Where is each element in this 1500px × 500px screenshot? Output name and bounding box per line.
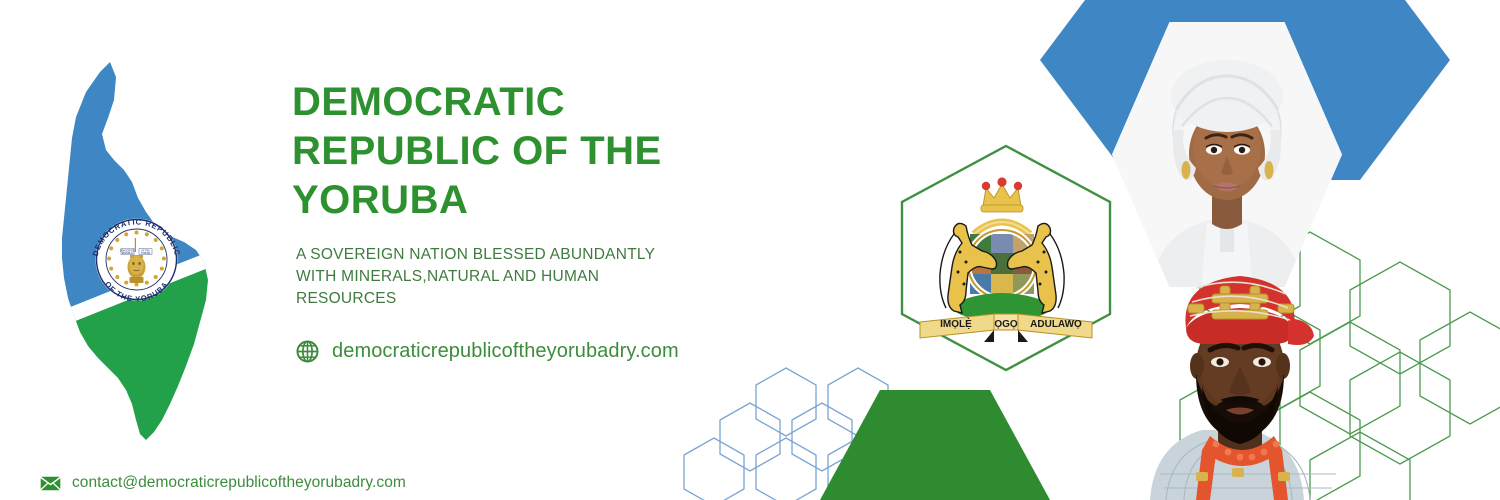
svg-text:YORUBA: YORUBA: [141, 252, 151, 255]
coat-of-arms: IMỌLẸ̀ ỌGỌ ADULAWỌ: [898, 144, 1114, 372]
tagline-line-3: RESOURCES: [296, 290, 396, 307]
tagline-line-1: A SOVEREIGN NATION BLESSED ABUNDANTLY: [296, 246, 655, 263]
motto-left: IMỌLẸ̀: [940, 316, 972, 330]
globe-icon: [296, 340, 319, 363]
green-solid-hexagon: [820, 390, 1050, 500]
national-seal: DEMOCRATIC REPUBLIC OF THE YORUBA: [85, 208, 188, 311]
envelope-icon: [40, 476, 61, 491]
svg-text:REPUBLIC: REPUBLIC: [122, 253, 134, 255]
tagline-line-2: WITH MINERALS,NATURAL AND HUMAN: [296, 268, 599, 285]
headline-line-1: DEMOCRATIC: [292, 80, 565, 124]
portrait-man: [1140, 258, 1355, 500]
motto-right: ADULAWỌ: [1030, 319, 1082, 330]
banner-root: DEMOCRATIC REPUBLIC OF THE YORUBA: [0, 0, 1500, 500]
motto-center: ỌGỌ: [994, 319, 1018, 330]
email-contact[interactable]: contact@democraticrepublicoftheyorubadry…: [40, 474, 406, 492]
royal-crown: [981, 177, 1023, 212]
headline-line-2: REPUBLIC OF THE: [292, 129, 662, 173]
headline-line-3: YORUBA: [292, 178, 468, 222]
website-url[interactable]: democraticrepublicoftheyorubadry.com: [332, 340, 679, 363]
email-address[interactable]: contact@democraticrepublicoftheyorubadry…: [72, 474, 406, 492]
tagline: A SOVEREIGN NATION BLESSED ABUNDANTLY WI…: [296, 244, 686, 310]
